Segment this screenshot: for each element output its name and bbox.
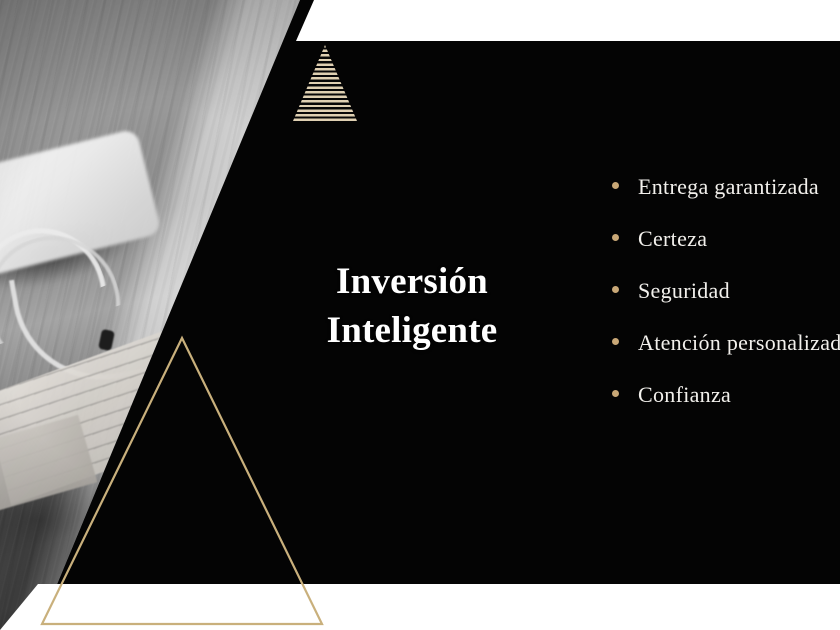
page-title-line-1: Inversión — [276, 258, 548, 307]
page-title: Inversión Inteligente — [276, 258, 548, 356]
page-title-line-2: Inteligente — [276, 307, 548, 356]
list-item: Atención personalizada — [612, 332, 840, 384]
top-white-band — [296, 0, 840, 41]
list-item: Seguridad — [612, 280, 840, 332]
bottom-white-band — [0, 584, 840, 630]
bullet-label: Seguridad — [638, 280, 730, 302]
bullet-label: Atención personalizada — [638, 332, 840, 354]
benefits-bullet-list: Entrega garantizada Certeza Seguridad At… — [612, 176, 840, 436]
bullet-dot-icon — [612, 390, 619, 397]
slide-canvas: Inversión Inteligente Entrega garantizad… — [0, 0, 840, 630]
bullet-dot-icon — [612, 182, 619, 189]
list-item: Confianza — [612, 384, 840, 436]
bullet-label: Confianza — [638, 384, 731, 406]
bullet-dot-icon — [612, 286, 619, 293]
bullet-label: Certeza — [638, 228, 707, 250]
bullet-dot-icon — [612, 338, 619, 345]
list-item: Certeza — [612, 228, 840, 280]
bullet-label: Entrega garantizada — [638, 176, 819, 198]
list-item: Entrega garantizada — [612, 176, 840, 228]
bullet-dot-icon — [612, 234, 619, 241]
